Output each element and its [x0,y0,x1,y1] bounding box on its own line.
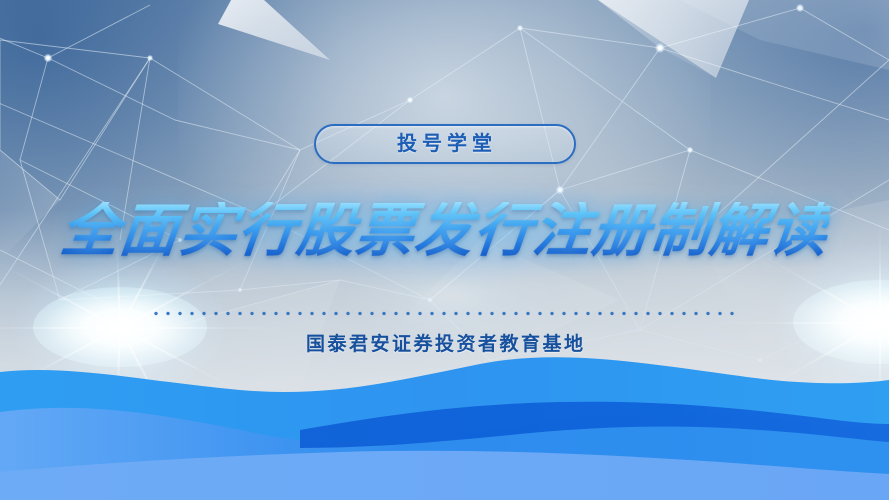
course-badge[interactable]: 投号学堂 [314,124,576,164]
course-badge-label: 投号学堂 [392,134,497,154]
wave-decoration [0,350,889,500]
dotted-divider [150,311,740,316]
main-title: 全面实行股票发行注册制解读 [58,202,831,260]
main-title-container: 全面实行股票发行注册制解读 全面实行股票发行注册制解读 [0,192,889,270]
promo-poster: 投号学堂 全面实行股票发行注册制解读 全面实行股票发行注册制解读 国泰君安证券投… [0,0,889,500]
subtitle: 国泰君安证券投资者教育基地 [0,329,889,356]
